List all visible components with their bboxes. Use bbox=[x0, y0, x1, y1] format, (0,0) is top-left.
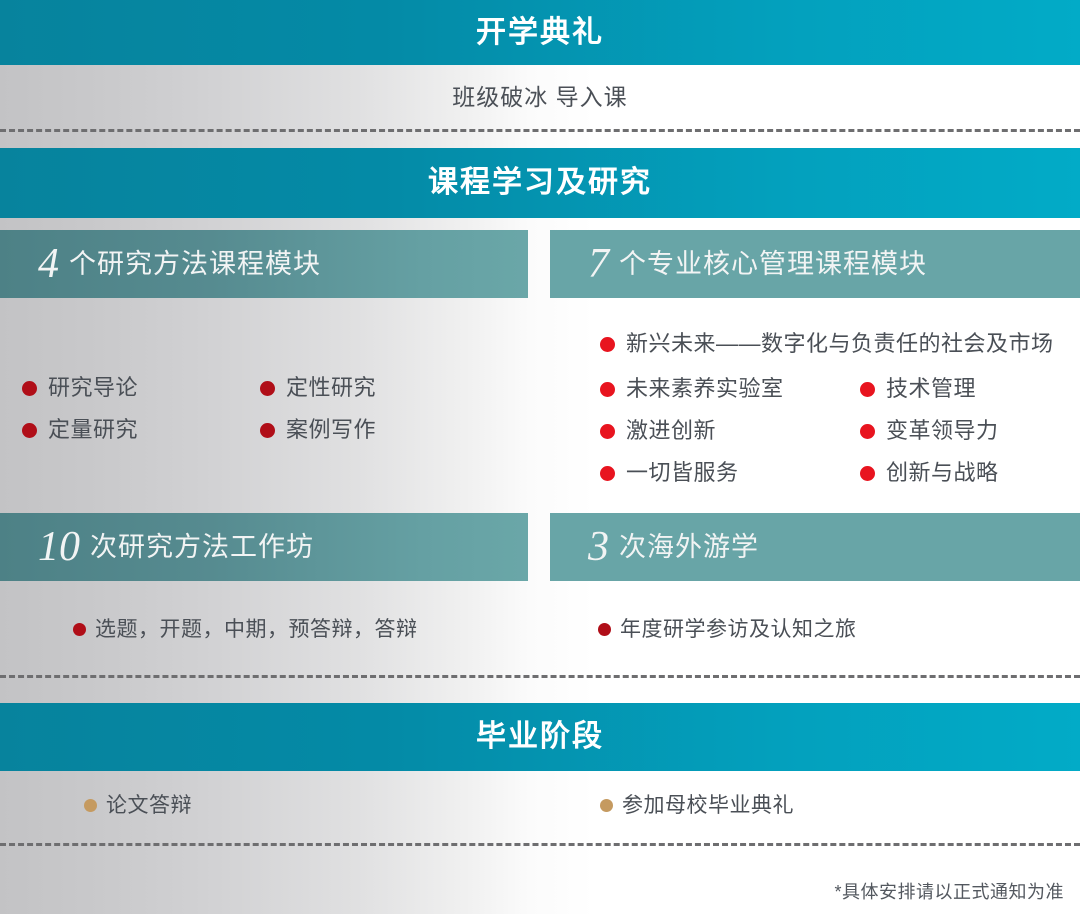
list-item-label: 激进创新 bbox=[626, 420, 716, 442]
panel-header-overseas-study: 3 次海外游学 bbox=[550, 513, 1080, 581]
opening-ceremony-caption-row: 班级破冰 导入课 bbox=[0, 65, 1080, 125]
list-item-label: 未来素养实验室 bbox=[626, 378, 784, 400]
list-item-innovation-and-strategy: 创新与战略 bbox=[860, 462, 999, 484]
bullet-dot-icon bbox=[860, 466, 875, 481]
divider-before-graduation bbox=[0, 675, 1080, 678]
list-item-label: 案例写作 bbox=[286, 419, 376, 441]
list-item-change-leadership: 变革领导力 bbox=[860, 420, 999, 442]
panel-header-method-workshops: 10 次研究方法工作坊 bbox=[0, 513, 528, 581]
bullet-dot-icon bbox=[260, 423, 275, 438]
list-item-label: 论文答辩 bbox=[106, 795, 192, 816]
panel-label-method-workshops: 次研究方法工作坊 bbox=[90, 534, 314, 561]
panel-label-research-methods: 个研究方法课程模块 bbox=[69, 251, 321, 278]
divider-after-opening bbox=[0, 129, 1080, 132]
opening-ceremony-caption: 班级破冰 导入课 bbox=[452, 78, 627, 112]
list-item-label: 年度研学参访及认知之旅 bbox=[620, 619, 857, 640]
bullet-dot-icon bbox=[598, 623, 611, 636]
list-item-label: 研究导论 bbox=[48, 377, 138, 399]
panel-number-overseas-study: 3 bbox=[588, 526, 609, 568]
bullet-dot-icon bbox=[22, 381, 37, 396]
bullet-dot-icon bbox=[600, 337, 615, 352]
banner-opening-ceremony: 开学典礼 bbox=[0, 0, 1080, 65]
program-timeline-infographic: 开学典礼 班级破冰 导入课 课程学习及研究 4 个研究方法课程模块 研究导论 定… bbox=[0, 0, 1080, 914]
list-item-thesis-defense: 论文答辩 bbox=[84, 795, 192, 816]
list-item-radical-innovation: 激进创新 bbox=[600, 420, 716, 442]
panel-number-method-workshops: 10 bbox=[38, 526, 80, 568]
list-item-research-intro: 研究导论 bbox=[22, 377, 138, 399]
list-item-label: 定性研究 bbox=[286, 377, 376, 399]
list-item-emerging-future: 新兴未来——数字化与负责任的社会及市场 bbox=[600, 333, 1054, 355]
list-item-label: 变革领导力 bbox=[886, 420, 999, 442]
bullet-dot-icon bbox=[860, 424, 875, 439]
list-item-everything-as-a-service: 一切皆服务 bbox=[600, 462, 739, 484]
panel-header-research-methods: 4 个研究方法课程模块 bbox=[0, 230, 528, 298]
bullet-dot-icon bbox=[600, 799, 613, 812]
list-item-label: 新兴未来——数字化与负责任的社会及市场 bbox=[626, 333, 1054, 355]
list-item-case-writing: 案例写作 bbox=[260, 419, 376, 441]
bullet-dot-icon bbox=[600, 424, 615, 439]
banner-graduation-title: 毕业阶段 bbox=[476, 722, 604, 752]
list-item-thesis-milestones: 选题，开题，中期，预答辩，答辩 bbox=[73, 619, 418, 640]
list-item-attend-commencement: 参加母校毕业典礼 bbox=[600, 795, 794, 816]
list-item-label: 一切皆服务 bbox=[626, 462, 739, 484]
panel-number-research-methods: 4 bbox=[38, 243, 59, 285]
bullet-dot-icon bbox=[600, 466, 615, 481]
panel-header-core-management: 7 个专业核心管理课程模块 bbox=[550, 230, 1080, 298]
banner-opening-ceremony-title: 开学典礼 bbox=[476, 18, 604, 48]
banner-course-study: 课程学习及研究 bbox=[0, 148, 1080, 218]
list-item-qualitative-research: 定性研究 bbox=[260, 377, 376, 399]
panel-number-core-management: 7 bbox=[588, 243, 609, 285]
bullet-dot-icon bbox=[600, 382, 615, 397]
list-item-label: 选题，开题，中期，预答辩，答辩 bbox=[95, 619, 418, 640]
list-item-label: 定量研究 bbox=[48, 419, 138, 441]
bullet-dot-icon bbox=[84, 799, 97, 812]
divider-after-graduation bbox=[0, 843, 1080, 846]
bullet-dot-icon bbox=[860, 382, 875, 397]
list-item-quantitative-research: 定量研究 bbox=[22, 419, 138, 441]
footnote-text: *具体安排请以正式通知为准 bbox=[834, 878, 1064, 904]
bullet-dot-icon bbox=[260, 381, 275, 396]
banner-course-study-title: 课程学习及研究 bbox=[428, 168, 652, 198]
panel-label-core-management: 个专业核心管理课程模块 bbox=[619, 251, 927, 278]
panel-label-overseas-study: 次海外游学 bbox=[619, 534, 759, 561]
list-item-label: 参加母校毕业典礼 bbox=[622, 795, 794, 816]
list-item-label: 技术管理 bbox=[886, 378, 976, 400]
list-item-label: 创新与战略 bbox=[886, 462, 999, 484]
bullet-dot-icon bbox=[73, 623, 86, 636]
bullet-dot-icon bbox=[22, 423, 37, 438]
banner-graduation: 毕业阶段 bbox=[0, 703, 1080, 771]
list-item-future-literacy-lab: 未来素养实验室 bbox=[600, 378, 784, 400]
list-item-annual-study-tour: 年度研学参访及认知之旅 bbox=[598, 619, 857, 640]
list-item-technology-management: 技术管理 bbox=[860, 378, 976, 400]
